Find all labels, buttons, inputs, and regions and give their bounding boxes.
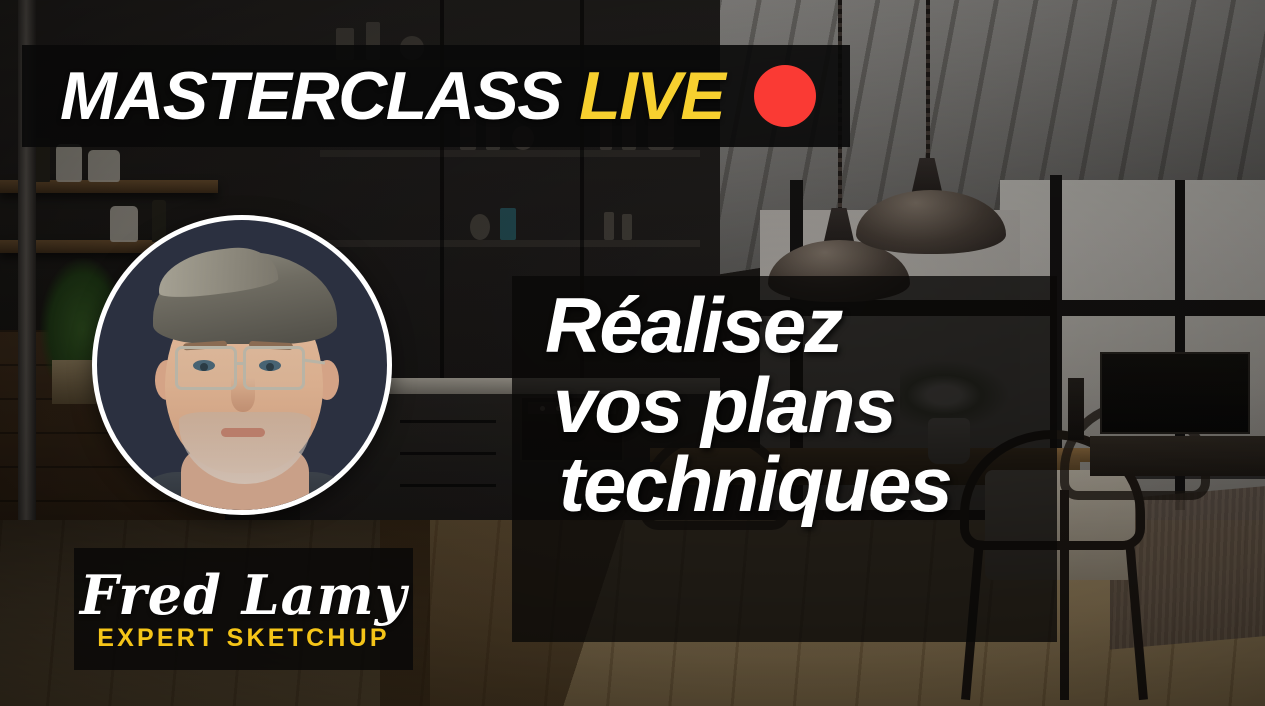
thumbnail-canvas: MASTERCLASS LIVE Réalisez vos plans tech… xyxy=(0,0,1265,706)
presenter-name: Fred Lamy xyxy=(80,568,407,622)
portrait-glasses-lens xyxy=(175,346,237,390)
portrait-glasses-lens xyxy=(243,346,305,390)
banner-title-accent: LIVE xyxy=(579,62,724,130)
presenter-role: EXPERT SKETCHUP xyxy=(97,626,389,651)
presenter-portrait-illustration xyxy=(97,220,387,510)
headline-line-1: Réalisez xyxy=(545,286,1065,366)
live-record-dot xyxy=(754,65,816,127)
portrait-lips xyxy=(221,428,265,437)
headline-line-3: techniques xyxy=(545,445,1065,525)
masterclass-live-banner: MASTERCLASS LIVE xyxy=(22,45,850,147)
banner-title-primary: MASTERCLASS xyxy=(60,62,561,130)
presenter-name-plate: Fred Lamy EXPERT SKETCHUP xyxy=(74,548,413,670)
headline-line-2: vos plans xyxy=(545,366,1065,446)
headline-text: Réalisez vos plans techniques xyxy=(545,286,1065,525)
portrait-glasses-bridge xyxy=(237,362,245,365)
presenter-avatar xyxy=(92,215,392,515)
